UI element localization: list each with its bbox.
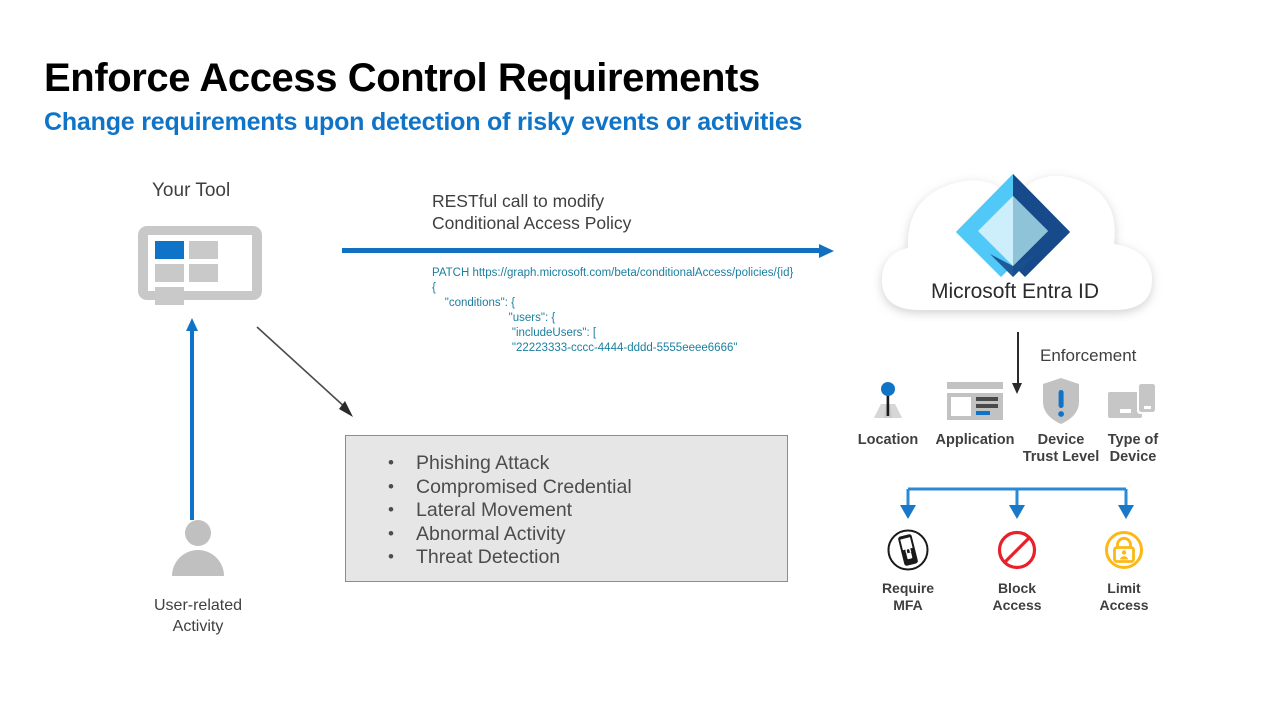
entra-cloud: Microsoft Entra ID [862,162,1168,322]
person-head [185,520,211,546]
list-item: Compromised Credential [388,476,787,500]
devices-icon [1086,376,1180,426]
enforcement-bracket [898,486,1136,520]
arrow-tool-to-risks [255,325,365,425]
restful-call-label-line2: Conditional Access Policy [432,213,631,233]
tool-tile [189,241,218,259]
page-title: Enforce Access Control Requirements [44,56,760,101]
action-label-line2: Access [992,597,1041,613]
list-item: Threat Detection [388,546,787,570]
condition-label-line2: Device [1110,449,1157,465]
list-item: Lateral Movement [388,499,787,523]
tool-tile [155,264,184,282]
entra-id-diamond-logo [952,170,1074,290]
location-pin-icon [841,376,935,426]
risk-list: Phishing Attack Compromised Credential L… [346,436,787,570]
enforcement-label: Enforcement [1040,346,1136,366]
condition-label-line1: Location [858,432,918,448]
condition-label-line1: Device [1038,432,1085,448]
user-activity-label-line1: User-related [154,597,242,614]
restful-call-label: RESTful call to modify Conditional Acces… [432,190,631,234]
application-window-icon [928,376,1022,426]
restful-call-label-line1: RESTful call to modify [432,191,604,211]
arrow-shaft [342,248,820,253]
arrow-shaft [190,329,194,520]
condition-label: Application [928,432,1022,449]
dashboard-grid-icon [138,226,262,300]
action-require-mfa: Require MFA [862,526,954,614]
action-label-line1: Block [998,580,1036,596]
condition-label: Type of Device [1086,432,1180,466]
block-sign-icon [971,526,1063,574]
action-label: Limit Access [1078,580,1170,614]
action-limit-access: Limit Access [1078,526,1170,614]
user-activity-label-line2: Activity [173,618,224,635]
user-activity-label: User-related Activity [110,595,286,637]
your-tool-label: Your Tool [152,180,230,202]
api-code-snippet: PATCH https://graph.microsoft.com/beta/c… [432,266,793,356]
action-label: Block Access [971,580,1063,614]
arrow-tool-to-cloud [342,244,834,258]
arrow-head [819,244,834,258]
action-label: Require MFA [862,580,954,614]
tool-tile [189,264,218,282]
action-label-line1: Require [882,580,934,596]
entra-cloud-label: Microsoft Entra ID [862,280,1168,304]
arrow-user-to-tool [186,318,198,520]
condition-label-line1: Application [936,432,1015,448]
condition-type-of-device: Type of Device [1086,376,1180,466]
action-block-access: Block Access [971,526,1063,614]
list-item: Phishing Attack [388,452,787,476]
risk-events-box: Phishing Attack Compromised Credential L… [345,435,788,582]
action-label-line1: Limit [1107,580,1140,596]
condition-label: Location [841,432,935,449]
page-subtitle: Change requirements upon detection of ri… [44,108,802,137]
slide-canvas: Enforce Access Control Requirements Chan… [0,0,1280,720]
person-icon [172,520,224,574]
action-label-line2: Access [1099,597,1148,613]
condition-location: Location [841,376,935,449]
tool-tile-active [155,241,184,259]
condition-label-line1: Type of [1108,432,1158,448]
person-body [172,550,224,576]
list-item: Abnormal Activity [388,523,787,547]
mfa-phone-icon [862,526,954,574]
tool-tile [155,287,184,305]
lock-limit-icon [1078,526,1170,574]
action-label-line2: MFA [893,597,923,613]
condition-application: Application [928,376,1022,449]
